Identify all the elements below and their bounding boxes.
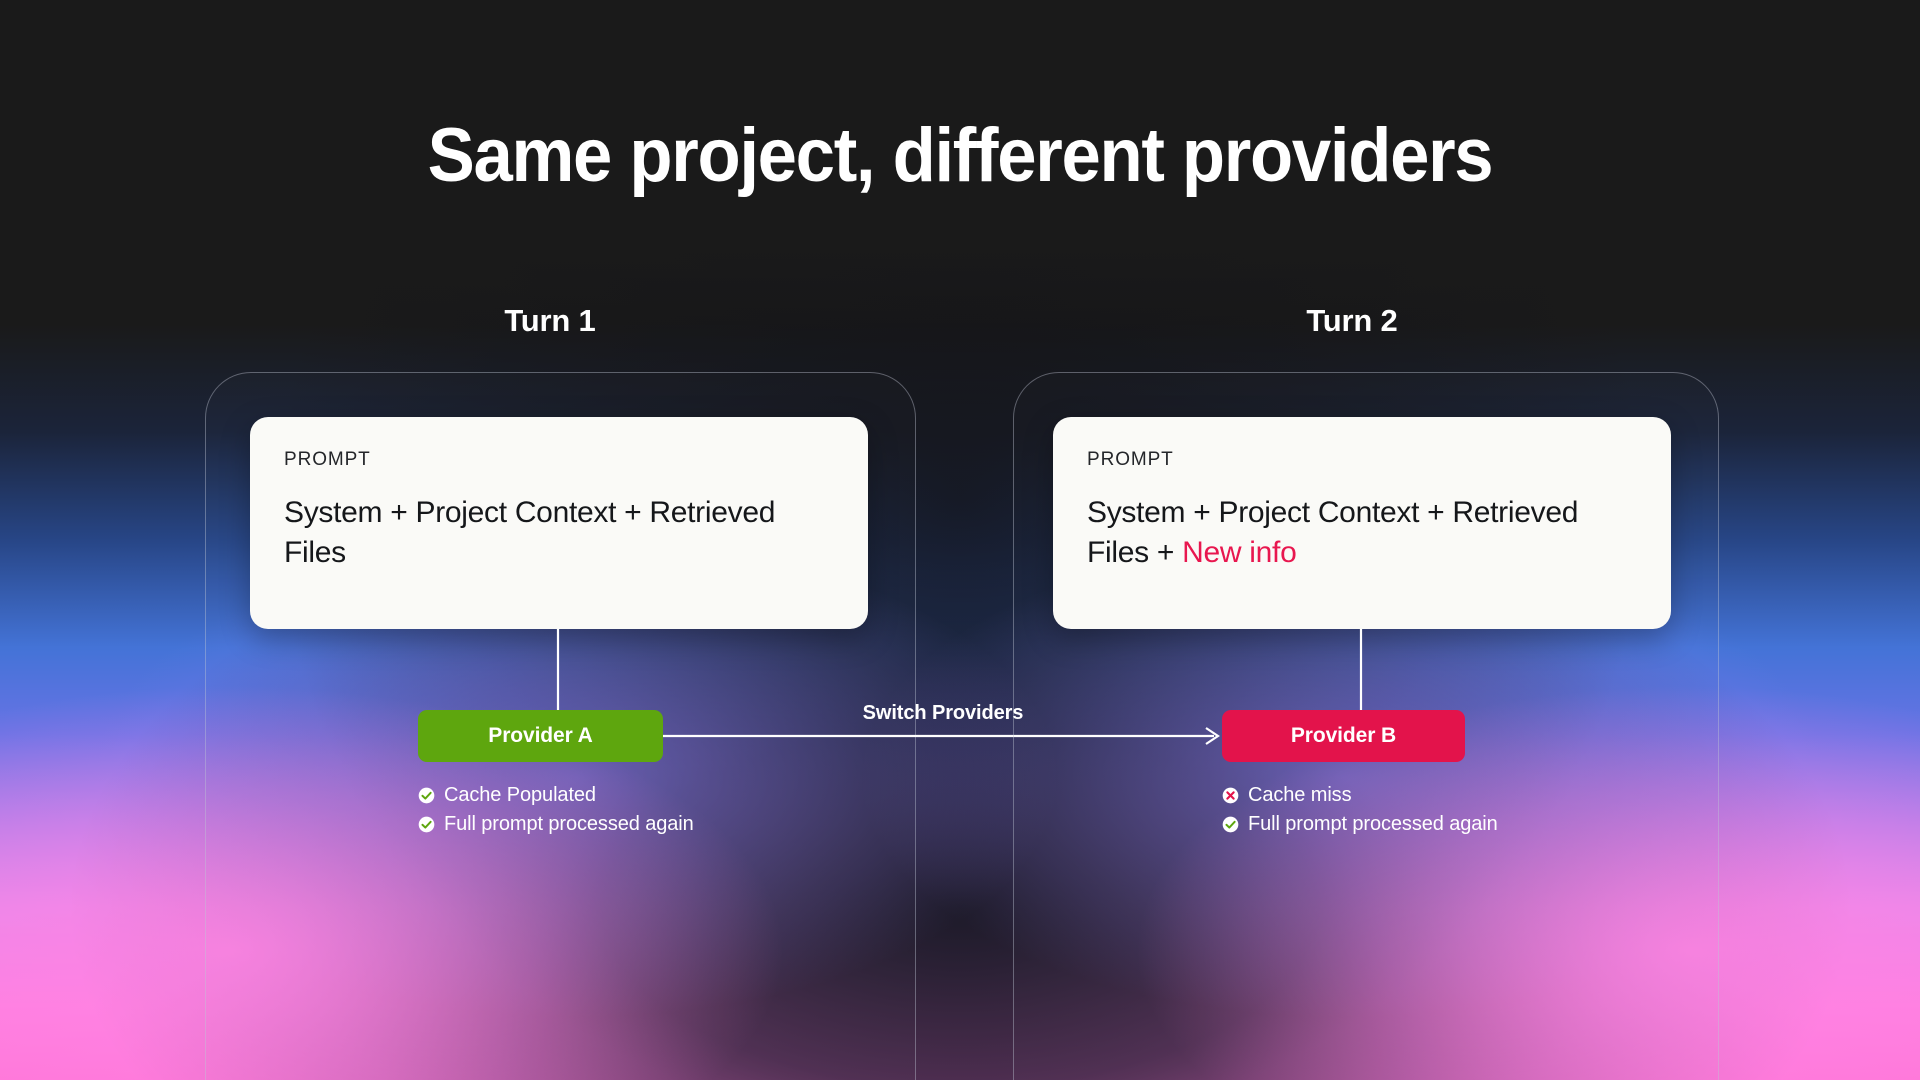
prompt-eyebrow-turn-2: PROMPT: [1087, 449, 1637, 471]
prompt-text-turn-1: System + Project Context + Retrieved Fil…: [284, 496, 775, 569]
x-circle-icon: [1222, 787, 1239, 804]
prompt-text-turn-2: System + Project Context + Retrieved Fil…: [1087, 496, 1578, 569]
provider-pill-a-label: Provider A: [488, 724, 592, 748]
check-item: Full prompt processed again: [1222, 813, 1498, 836]
check-circle-icon: [418, 816, 435, 833]
provider-pill-b-label: Provider B: [1291, 724, 1396, 748]
check-item: Cache Populated: [418, 784, 694, 807]
prompt-eyebrow-turn-1: PROMPT: [284, 449, 834, 471]
prompt-card-turn-1: PROMPT System + Project Context + Retrie…: [250, 417, 868, 629]
turn-label-turn-2: Turn 2: [1202, 303, 1502, 339]
prompt-accent-turn-2: New info: [1182, 536, 1296, 569]
provider-pill-a[interactable]: Provider A: [418, 710, 663, 762]
provider-pill-b[interactable]: Provider B: [1222, 710, 1465, 762]
prompt-body-turn-1: System + Project Context + Retrieved Fil…: [284, 493, 834, 573]
check-item-label: Cache miss: [1248, 784, 1351, 807]
diagram-stage: Same project, different providers Turn 1…: [0, 0, 1920, 1080]
checklist-turn-1: Cache Populated Full prompt processed ag…: [418, 784, 694, 842]
page-title: Same project, different providers: [67, 112, 1853, 199]
check-circle-icon: [1222, 816, 1239, 833]
check-item-label: Full prompt processed again: [444, 813, 694, 836]
check-item-label: Cache Populated: [444, 784, 596, 807]
check-circle-icon: [418, 787, 435, 804]
check-item-label: Full prompt processed again: [1248, 813, 1498, 836]
checklist-turn-2: Cache miss Full prompt processed again: [1222, 784, 1498, 842]
check-item: Full prompt processed again: [418, 813, 694, 836]
prompt-card-turn-2: PROMPT System + Project Context + Retrie…: [1053, 417, 1671, 629]
check-item: Cache miss: [1222, 784, 1498, 807]
turn-label-turn-1: Turn 1: [400, 303, 700, 339]
prompt-body-turn-2: System + Project Context + Retrieved Fil…: [1087, 493, 1637, 573]
